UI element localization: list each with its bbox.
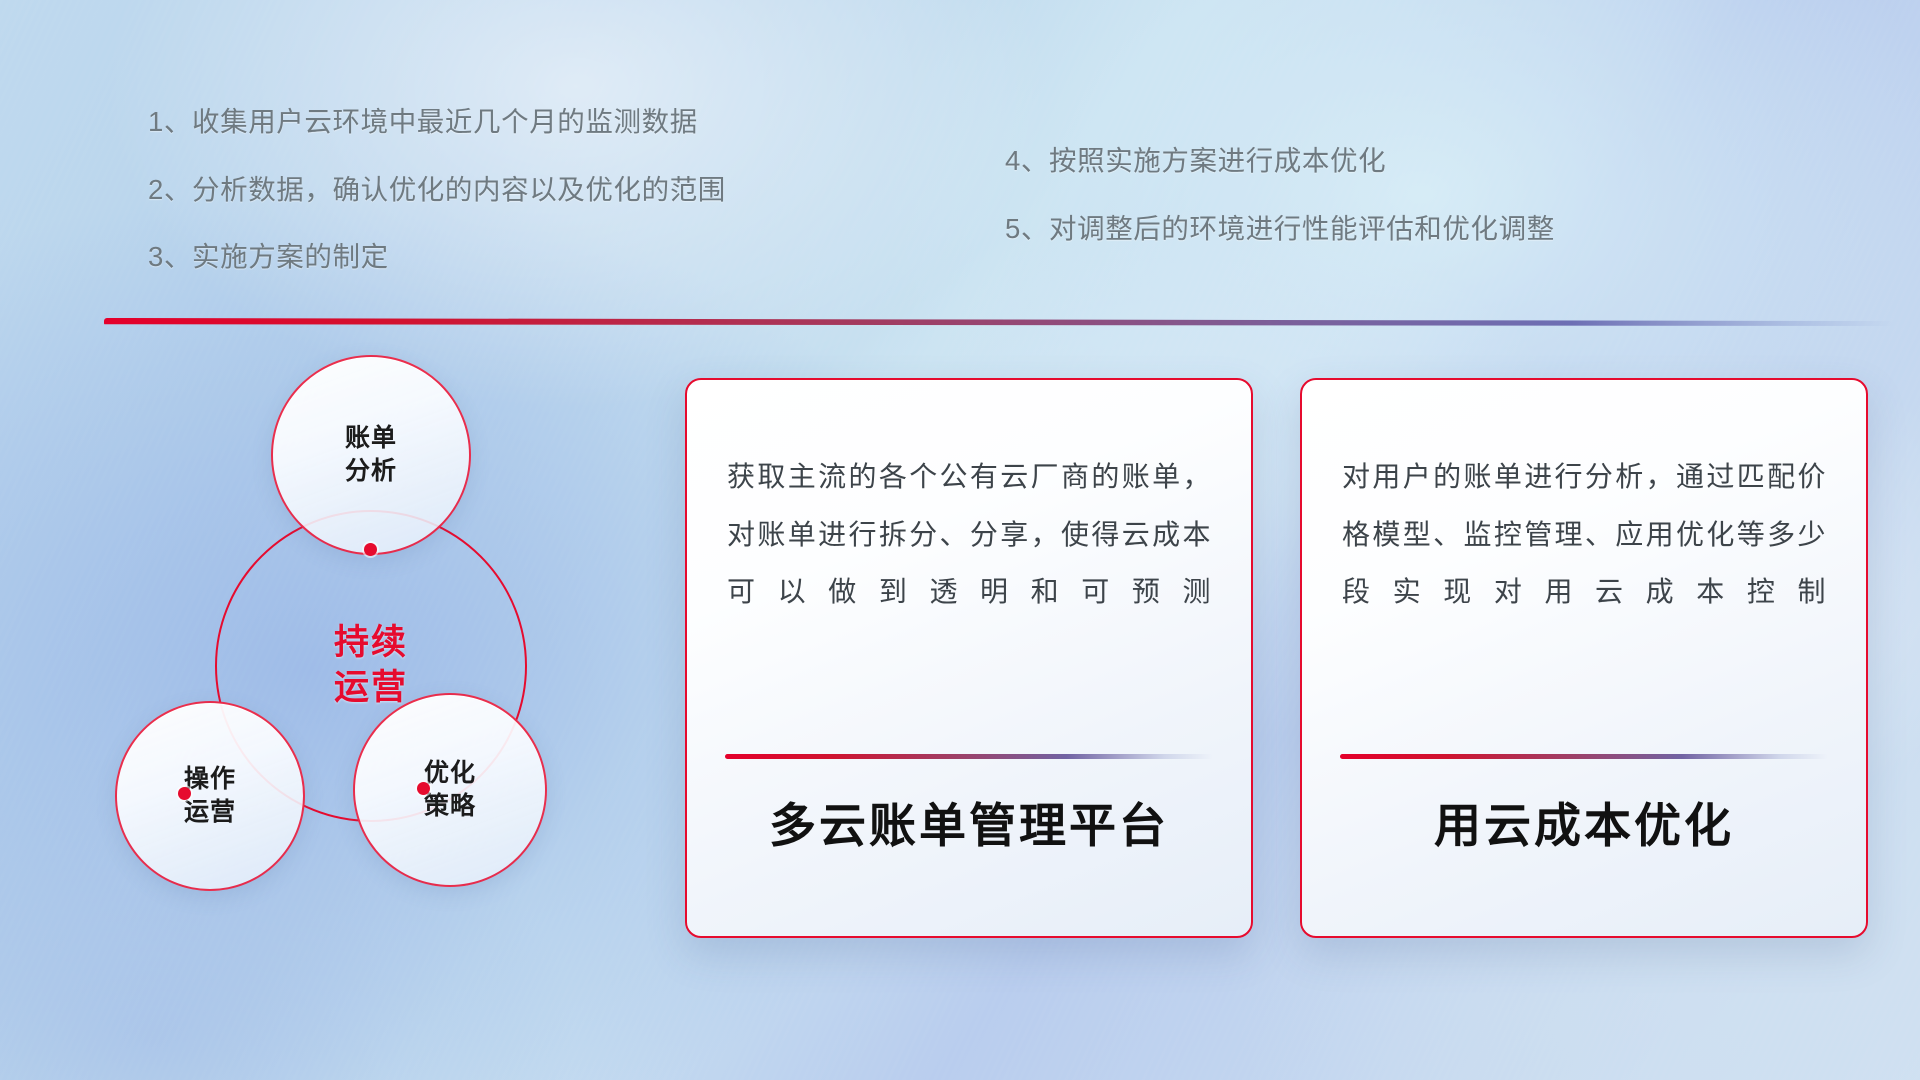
- venn-center-label-line2: 运营: [334, 666, 408, 711]
- venn-node-dot-bottom-right: [417, 782, 430, 795]
- step-list: 1、收集用户云环境中最近几个月的监测数据 2、分析数据，确认优化的内容以及优化的…: [0, 108, 1920, 293]
- venn-node-dot-top: [364, 543, 377, 556]
- feature-card-title: 用云成本优化: [1302, 798, 1866, 854]
- venn-bubble-label-line1: 账单: [345, 422, 397, 455]
- feature-card-body: 对用户的账单进行分析，通过匹配价格模型、监控管理、应用优化等多少段实现对用云成本…: [1342, 448, 1826, 621]
- venn-center-label-line1: 持续: [334, 621, 408, 666]
- step-list-right-column: 4、按照实施方案进行成本优化 5、对调整后的环境进行性能评估和优化调整: [1005, 147, 1555, 242]
- feature-card-rule: [1340, 754, 1828, 759]
- step-item: 1、收集用户云环境中最近几个月的监测数据: [148, 108, 726, 136]
- feature-card-multicloud-billing[interactable]: 获取主流的各个公有云厂商的账单，对账单进行拆分、分享，使得云成本可以做到透明和可…: [685, 378, 1253, 938]
- venn-diagram: 账单 分析 操作 运营 优化 策略 持续 运营: [95, 345, 620, 950]
- venn-bubble-label: 账单 分析: [345, 422, 397, 488]
- feature-card-cost-optimization[interactable]: 对用户的账单进行分析，通过匹配价格模型、监控管理、应用优化等多少段实现对用云成本…: [1300, 378, 1868, 938]
- step-item: 5、对调整后的环境进行性能评估和优化调整: [1005, 215, 1555, 243]
- step-list-left-column: 1、收集用户云环境中最近几个月的监测数据 2、分析数据，确认优化的内容以及优化的…: [148, 108, 726, 271]
- feature-card-rule: [725, 754, 1213, 759]
- feature-card-body: 获取主流的各个公有云厂商的账单，对账单进行拆分、分享，使得云成本可以做到透明和可…: [727, 448, 1211, 621]
- venn-center-label: 持续 运营: [215, 510, 527, 822]
- step-item: 3、实施方案的制定: [148, 243, 726, 271]
- venn-bubble-label-line2: 分析: [345, 455, 397, 488]
- step-item: 4、按照实施方案进行成本优化: [1005, 147, 1555, 175]
- section-divider: [104, 318, 1894, 326]
- venn-node-dot-bottom-left: [178, 787, 191, 800]
- step-item: 2、分析数据，确认优化的内容以及优化的范围: [148, 176, 726, 204]
- divider-bar: [104, 318, 1894, 326]
- feature-card-title: 多云账单管理平台: [687, 798, 1251, 854]
